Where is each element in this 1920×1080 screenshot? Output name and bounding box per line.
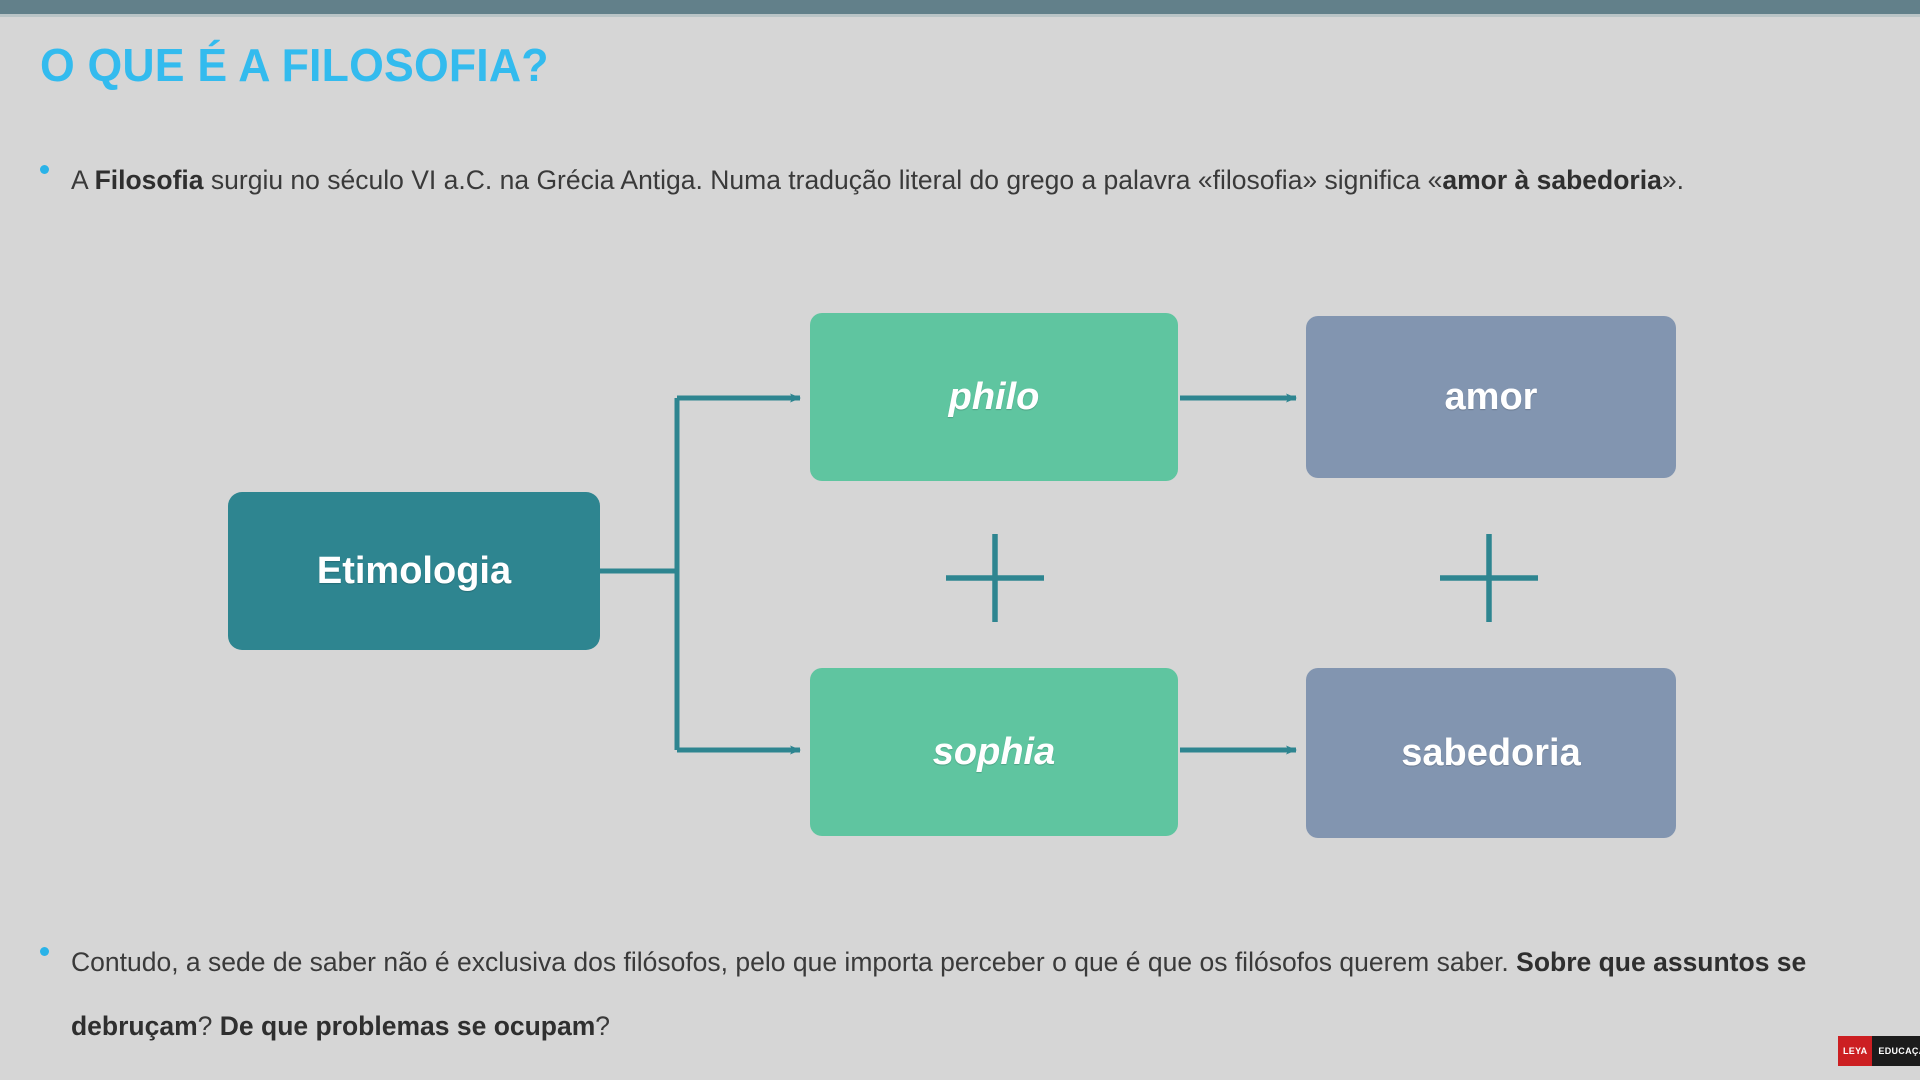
diagram-node-sophia: sophia bbox=[810, 668, 1178, 836]
diagram-node-philo: philo bbox=[810, 313, 1178, 481]
logo-mark-leya: LEYA bbox=[1838, 1036, 1872, 1066]
diagram-node-amor: amor bbox=[1306, 316, 1676, 478]
diagram-node-amor-label: amor bbox=[1445, 376, 1538, 419]
diagram-node-philo-label: philo bbox=[949, 376, 1040, 419]
bullet-dot-icon bbox=[40, 165, 49, 174]
top-accent-hairline bbox=[0, 14, 1920, 17]
publisher-logo: LEYA EDUCAÇÃO bbox=[1838, 1036, 1920, 1066]
diagram-node-etimologia: Etimologia bbox=[228, 492, 600, 650]
top-accent-bar bbox=[0, 0, 1920, 14]
etymology-diagram: Etimologia philo amor sophia sabedoria bbox=[0, 280, 1920, 880]
bullet-paragraph-bottom-text: Contudo, a sede de saber não é exclusiva… bbox=[71, 930, 1880, 1058]
logo-word-educacao: EDUCAÇÃO bbox=[1872, 1036, 1920, 1066]
diagram-node-etimologia-label: Etimologia bbox=[317, 550, 511, 593]
plus-icon-left bbox=[946, 534, 1044, 622]
bullet-paragraph-bottom: Contudo, a sede de saber não é exclusiva… bbox=[40, 930, 1880, 1058]
bullet-paragraph-top: A Filosofia surgiu no século VI a.C. na … bbox=[40, 148, 1880, 212]
diagram-node-sabedoria-label: sabedoria bbox=[1401, 732, 1581, 775]
page-title: O QUE É A FILOSOFIA? bbox=[40, 38, 549, 92]
bullet-paragraph-top-text: A Filosofia surgiu no século VI a.C. na … bbox=[71, 148, 1684, 212]
diagram-node-sophia-label: sophia bbox=[933, 731, 1055, 774]
bullet-dot-icon bbox=[40, 947, 49, 956]
diagram-node-sabedoria: sabedoria bbox=[1306, 668, 1676, 838]
plus-icon-right bbox=[1440, 534, 1538, 622]
